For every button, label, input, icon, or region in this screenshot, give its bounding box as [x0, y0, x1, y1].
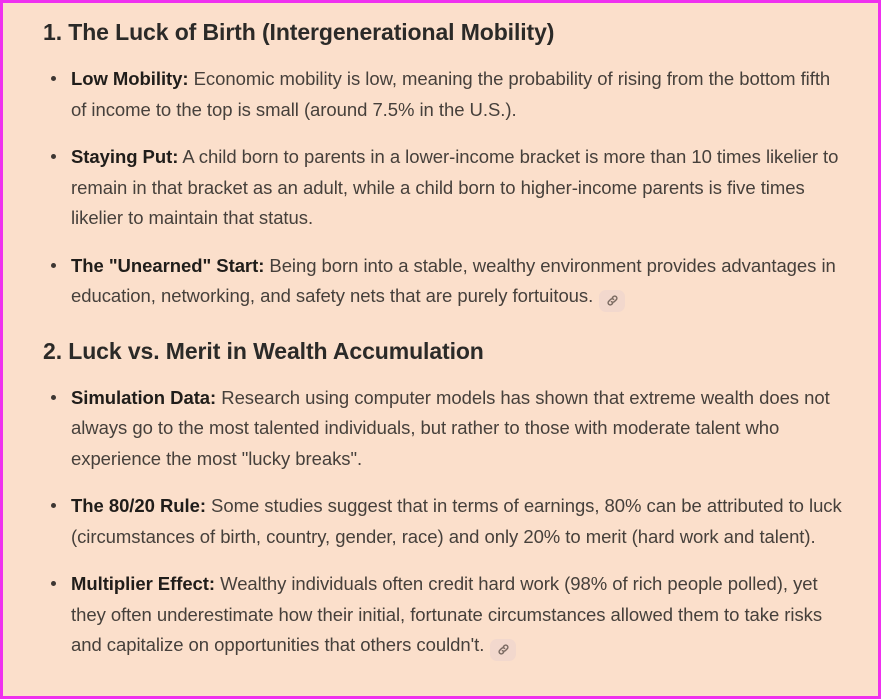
list-item: Staying Put: A child born to parents in …: [43, 142, 846, 234]
list-item-label: The 80/20 Rule:: [71, 495, 206, 516]
answer-card: 1. The Luck of Birth (Intergenerational …: [0, 0, 881, 699]
section-luck-of-birth: 1. The Luck of Birth (Intergenerational …: [43, 9, 846, 312]
list-item-label: Multiplier Effect:: [71, 573, 215, 594]
content-body: 1. The Luck of Birth (Intergenerational …: [43, 9, 846, 690]
section-heading-2: 2. Luck vs. Merit in Wealth Accumulation: [43, 312, 846, 366]
bullet-dot-icon: [51, 263, 56, 268]
section-luck-vs-merit: 2. Luck vs. Merit in Wealth Accumulation…: [43, 312, 846, 661]
list-item: The "Unearned" Start: Being born into a …: [43, 251, 846, 312]
list-item-text: A child born to parents in a lower-incom…: [71, 146, 838, 228]
list-item-label: Simulation Data:: [71, 387, 216, 408]
bullet-dot-icon: [51, 503, 56, 508]
section-heading-1: 1. The Luck of Birth (Intergenerational …: [43, 9, 846, 47]
bullet-dot-icon: [51, 76, 56, 81]
list-item-label: The "Unearned" Start:: [71, 255, 264, 276]
bullet-dot-icon: [51, 154, 56, 159]
list-item: Low Mobility: Economic mobility is low, …: [43, 64, 846, 125]
list-item-label: Low Mobility:: [71, 68, 189, 89]
citation-link-button[interactable]: [490, 639, 516, 661]
list-item: Simulation Data: Research using computer…: [43, 383, 846, 475]
bullet-list-2: Simulation Data: Research using computer…: [43, 383, 846, 661]
list-item: The 80/20 Rule: Some studies suggest tha…: [43, 491, 846, 552]
link-icon: [606, 294, 619, 307]
bullet-dot-icon: [51, 581, 56, 586]
bullet-dot-icon: [51, 395, 56, 400]
link-icon: [497, 643, 510, 656]
citation-link-button[interactable]: [599, 290, 625, 312]
bullet-list-1: Low Mobility: Economic mobility is low, …: [43, 64, 846, 312]
list-item: Multiplier Effect: Wealthy individuals o…: [43, 569, 846, 661]
list-item-label: Staying Put:: [71, 146, 178, 167]
